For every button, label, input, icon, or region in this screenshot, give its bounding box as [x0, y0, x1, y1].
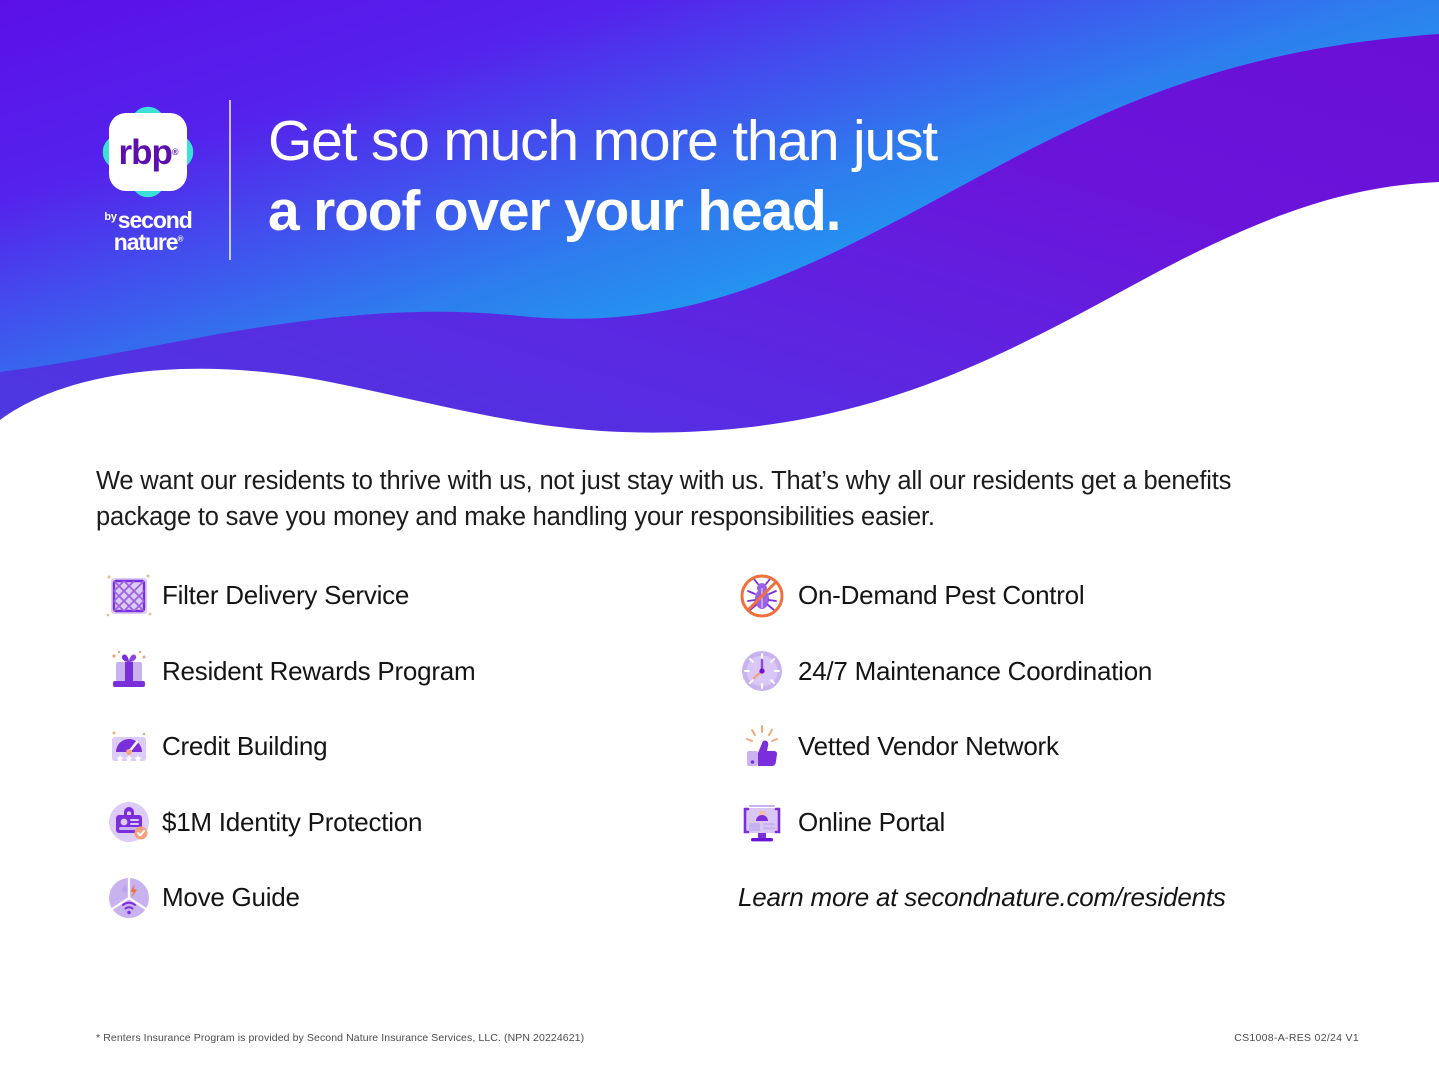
benefit-label: Vetted Vendor Network — [798, 731, 1059, 762]
intro-paragraph: We want our residents to thrive with us,… — [96, 463, 1311, 536]
benefit-item-vendor-network: Vetted Vendor Network — [726, 709, 1356, 785]
credit-score-icon — [96, 716, 162, 778]
logo-nature-registered-mark: ® — [177, 234, 182, 243]
benefits-right-column: On-Demand Pest Control — [726, 558, 1356, 936]
thumbs-up-icon — [726, 716, 798, 778]
rbp-logo-mark: rbp® — [94, 98, 202, 206]
logo-by-text: by — [104, 212, 116, 222]
benefit-label: Move Guide — [162, 882, 300, 913]
air-filter-icon — [96, 565, 162, 627]
benefit-item-move-guide: Move Guide — [96, 860, 726, 936]
benefit-item-pest-control: On-Demand Pest Control — [726, 558, 1356, 634]
benefit-item-identity-protection: $1M Identity Protection — [96, 785, 726, 861]
footer-disclaimer: * Renters Insurance Program is provided … — [96, 1032, 584, 1044]
logo-rbp-wordmark: rbp — [118, 135, 171, 170]
benefit-item-credit-building: Credit Building — [96, 709, 726, 785]
logo-registered-mark: ® — [172, 148, 178, 157]
benefit-label: On-Demand Pest Control — [798, 580, 1084, 611]
benefit-item-filter-delivery: Filter Delivery Service — [96, 558, 726, 634]
benefit-item-online-portal: Online Portal — [726, 785, 1356, 861]
gift-icon — [96, 640, 162, 702]
benefit-item-maintenance: 24/7 Maintenance Coordination — [726, 634, 1356, 710]
benefit-label: 24/7 Maintenance Coordination — [798, 656, 1152, 687]
id-badge-shield-icon — [96, 791, 162, 853]
benefit-item-resident-rewards: Resident Rewards Program — [96, 634, 726, 710]
hero-banner: rbp® bysecond nature® Get so much more t… — [0, 0, 1439, 452]
learn-more-link[interactable]: Learn more at secondnature.com/residents — [738, 882, 1356, 913]
monitor-icon — [726, 791, 798, 853]
hero-headline: Get so much more than just a roof over y… — [268, 110, 937, 244]
logo-nature-word: nature — [114, 229, 178, 255]
footer-document-code: CS1008-A-RES 02/24 V1 — [1234, 1032, 1359, 1044]
benefit-label: Credit Building — [162, 731, 327, 762]
logo-nature-text: nature® — [88, 232, 208, 254]
utilities-circle-icon — [96, 867, 162, 929]
header-divider — [229, 100, 231, 260]
benefits-section: Filter Delivery Service Resident Rewards… — [96, 558, 1356, 936]
headline-line-1: Get so much more than just — [268, 110, 937, 174]
benefit-label: $1M Identity Protection — [162, 807, 422, 838]
logo-subtitle: bysecond nature® — [88, 210, 208, 253]
benefits-left-column: Filter Delivery Service Resident Rewards… — [96, 558, 726, 936]
benefit-label: Online Portal — [798, 807, 945, 838]
benefit-label: Resident Rewards Program — [162, 656, 475, 687]
clock-icon — [726, 640, 798, 702]
logo-rbp-text: rbp® — [94, 98, 202, 206]
no-pest-icon — [726, 565, 798, 627]
headline-line-2: a roof over your head. — [268, 180, 937, 244]
rbp-logo-lockup: rbp® bysecond nature® — [88, 98, 208, 258]
benefit-label: Filter Delivery Service — [162, 580, 409, 611]
